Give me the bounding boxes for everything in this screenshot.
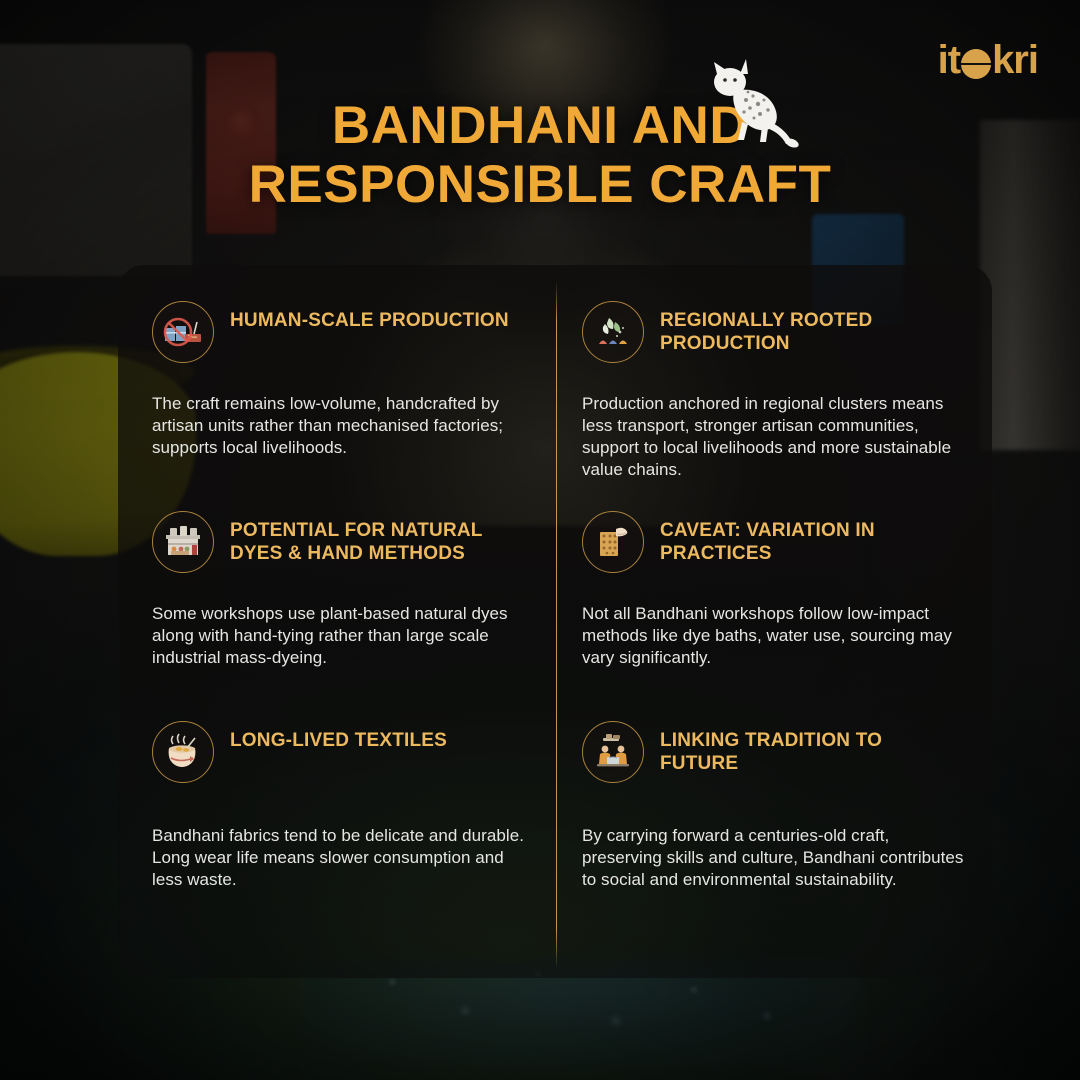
content-panel: HUMAN-SCALE PRODUCTION The craft remains… — [118, 265, 992, 978]
card-title: POTENTIAL FOR NATURAL DYES & HAND METHOD… — [230, 509, 530, 565]
logo-text-before: it — [938, 40, 960, 80]
natural-dye-leaves-icon — [582, 301, 644, 363]
card-title: LINKING TRADITION TO FUTURE — [660, 719, 952, 775]
card-caveat-variation-practices: CAVEAT: VARIATION IN PRACTICES Not all B… — [556, 509, 992, 719]
card-header: HUMAN-SCALE PRODUCTION — [152, 299, 534, 363]
card-header: LINKING TRADITION TO FUTURE — [582, 719, 968, 783]
hand-holding-fabric-swatch-icon — [582, 511, 644, 573]
card-body: The craft remains low-volume, handcrafte… — [152, 393, 534, 459]
infographic-poster: it kri BANDHANI AND RESPONSIBLE CRAFT — [0, 0, 1080, 1080]
artisan-workshop-building-icon — [152, 511, 214, 573]
card-title: HUMAN-SCALE PRODUCTION — [230, 299, 509, 332]
card-linking-tradition-to-future: LINKING TRADITION TO FUTURE By carrying … — [556, 719, 992, 939]
card-natural-dyes-hand-methods: POTENTIAL FOR NATURAL DYES & HAND METHOD… — [118, 509, 556, 719]
title-line-2: RESPONSIBLE CRAFT — [0, 155, 1080, 214]
card-title: CAVEAT: VARIATION IN PRACTICES — [660, 509, 952, 565]
card-title: LONG-LIVED TEXTILES — [230, 719, 447, 752]
card-regionally-rooted-production: REGIONALLY ROOTED PRODUCTION Production … — [556, 299, 992, 509]
card-header: CAVEAT: VARIATION IN PRACTICES — [582, 509, 968, 573]
card-body: Some workshops use plant-based natural d… — [152, 603, 534, 669]
card-body: Not all Bandhani workshops follow low-im… — [582, 603, 968, 669]
card-body: Bandhani fabrics tend to be delicate and… — [152, 825, 534, 891]
logo-basket-o-icon — [961, 49, 991, 79]
page-title: BANDHANI AND RESPONSIBLE CRAFT — [0, 96, 1080, 215]
steaming-dye-pot-icon — [152, 721, 214, 783]
card-title: REGIONALLY ROOTED PRODUCTION — [660, 299, 952, 355]
brand-logo[interactable]: it kri — [938, 40, 1038, 80]
title-line-1: BANDHANI AND — [0, 96, 1080, 155]
card-long-lived-textiles: LONG-LIVED TEXTILES Bandhani fabrics ten… — [118, 719, 556, 939]
card-human-scale-production: HUMAN-SCALE PRODUCTION The craft remains… — [118, 299, 556, 509]
logo-text-after: kri — [992, 40, 1038, 80]
card-body: Production anchored in regional clusters… — [582, 393, 968, 481]
two-artisans-icon — [582, 721, 644, 783]
card-header: REGIONALLY ROOTED PRODUCTION — [582, 299, 968, 363]
card-body: By carrying forward a centuries-old craf… — [582, 825, 968, 891]
card-header: LONG-LIVED TEXTILES — [152, 719, 534, 783]
card-header: POTENTIAL FOR NATURAL DYES & HAND METHOD… — [152, 509, 534, 573]
no-factory-icon — [152, 301, 214, 363]
cards-grid: HUMAN-SCALE PRODUCTION The craft remains… — [118, 265, 992, 978]
